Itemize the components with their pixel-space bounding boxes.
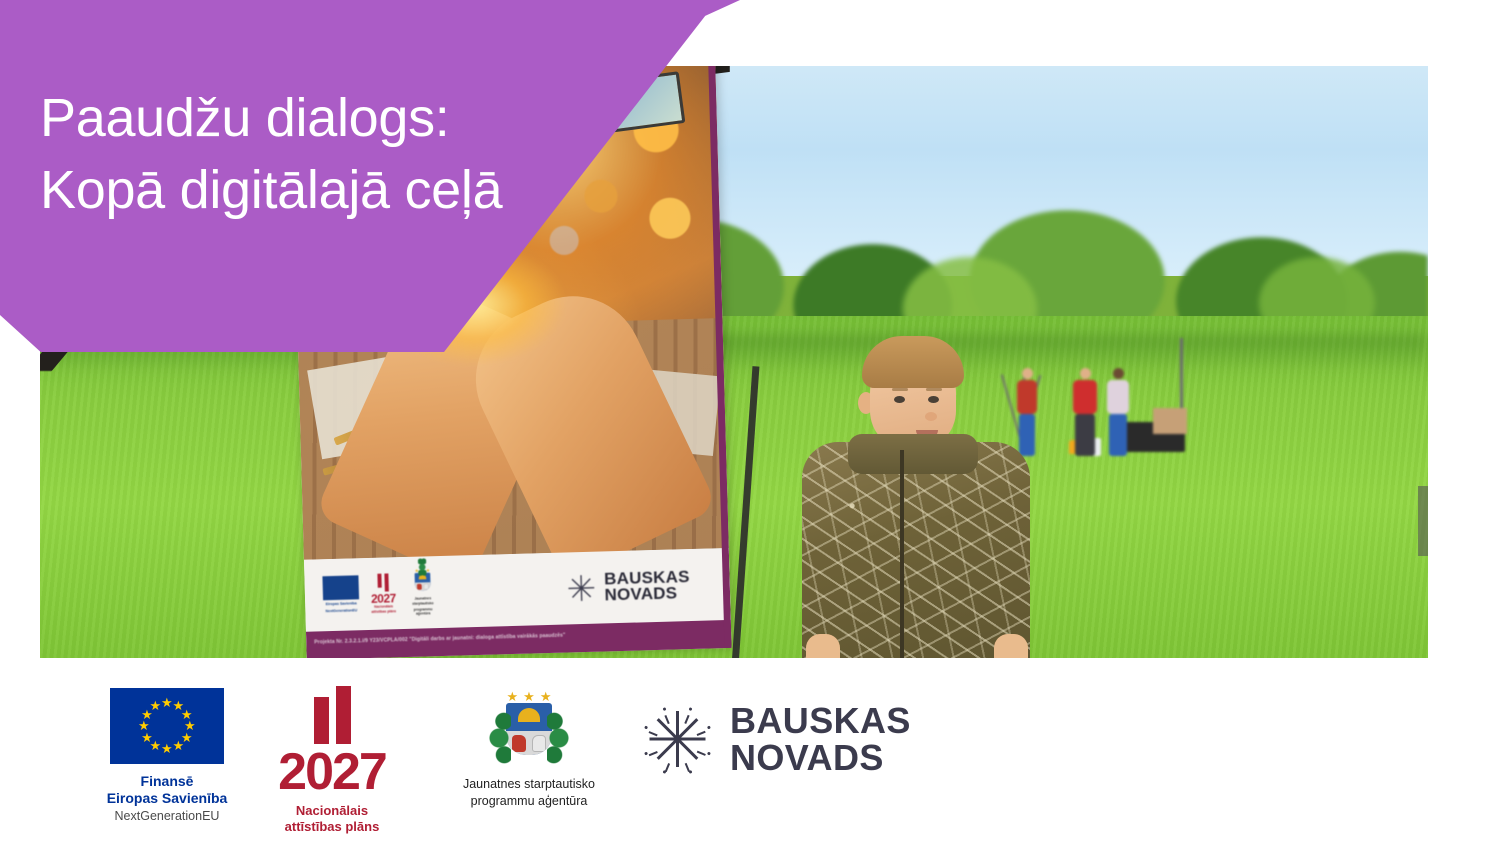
eu-flag-icon <box>322 576 359 601</box>
oak-branch-right-icon <box>547 710 571 766</box>
eu-flag-icon: ★★★★★★★★★★★★ <box>110 688 224 764</box>
coat-of-arms-shield <box>506 703 552 755</box>
banner-eu-logo: Eiropas Savienība NextGenerationEU <box>322 576 359 614</box>
banner-eu-caption: Eiropas Savienība <box>323 602 359 608</box>
jsp-caption-line-1: Jaunatnes starptautisko <box>454 776 604 793</box>
starburst-dash <box>684 715 690 724</box>
child-collar <box>848 434 978 474</box>
starburst-dash <box>648 731 657 737</box>
child-eye <box>928 396 939 403</box>
nap-caption-line-2: attīstības plāns <box>252 819 412 835</box>
logo-jaunatnes-agentura: ★★★ Jaunatnes starptautisko programmu aģ… <box>454 676 604 810</box>
eu-star-icon: ★ <box>161 696 173 709</box>
banner-jsp-logo: ★★★ Jaunatnes starptautisko programmu aģ… <box>407 568 438 616</box>
starburst-dot <box>644 752 648 756</box>
latvia-coat-of-arms-icon: ★★★ <box>417 569 427 578</box>
starburst-dot <box>688 707 692 711</box>
jsp-caption-line-2: programmu aģentūra <box>454 793 604 810</box>
eu-star-icon: ★ <box>150 699 162 712</box>
coat-of-arms-stars: ★★★ <box>507 690 552 703</box>
starburst-dash <box>696 731 705 737</box>
banner-jsp-caption-2: programmu aģentūra <box>408 607 438 617</box>
nap-bars-icon <box>370 573 395 592</box>
page-title-line-1: Paaudžu dialogs: <box>40 82 502 154</box>
latvia-coat-of-arms-icon: ★★★ <box>485 690 573 768</box>
banner-bauskas-text: BAUSKAS NOVADS <box>604 569 690 603</box>
nap-caption-line-1: Nacionālais <box>252 803 412 819</box>
bauskas-line-2: NOVADS <box>730 739 911 776</box>
cardboard-box <box>1153 408 1187 434</box>
shield-lower-field <box>506 731 552 755</box>
background-person <box>1107 368 1129 456</box>
griffin-icon <box>532 735 546 752</box>
child-nose <box>925 412 937 421</box>
footer-logo-bar: ★★★★★★★★★★★★ Finansē Eiropas Savienība N… <box>0 676 1500 860</box>
starburst-dot <box>644 726 648 730</box>
banner-project-reference: Projekta Nr. 2.3.2.1.i/9 Y23/VCPLA/002 "… <box>314 628 722 646</box>
logo-bauskas-novads: BAUSKAS NOVADS <box>640 676 911 776</box>
logo-nacionalais-attistibas-plans: 2027 Nacionālais attīstības plāns <box>252 676 412 835</box>
child-eyebrow <box>926 388 942 391</box>
banner-jsp-caption-1: Jaunatnes starptautisko <box>408 596 438 606</box>
bauskas-wordmark: BAUSKAS NOVADS <box>730 702 911 776</box>
starburst-dash <box>696 751 705 757</box>
logo-eu-nextgeneration: ★★★★★★★★★★★★ Finansē Eiropas Savienība N… <box>92 676 242 824</box>
nap-year: 2027 <box>252 746 412 798</box>
starburst-dot <box>706 752 710 756</box>
banner-nap-logo: 2027 Nacionālais attīstības plāns <box>370 573 396 613</box>
starburst-icon <box>640 702 714 776</box>
tent-pole-right <box>1418 486 1428 556</box>
bauskas-line-1: BAUSKAS <box>730 702 911 739</box>
eu-star-icon: ★ <box>161 742 173 755</box>
starburst-dot <box>662 707 666 711</box>
child-jacket-zipper <box>900 450 904 658</box>
starburst-dash <box>648 751 657 757</box>
eu-logo-line-3: NextGenerationEU <box>92 808 242 824</box>
child-eye <box>894 396 905 403</box>
child-hair <box>862 336 964 388</box>
banner-bauskas-logo: BAUSKAS NOVADS <box>564 567 712 605</box>
nap-bars-icon <box>252 686 412 744</box>
oak-branch-left-icon <box>487 710 511 766</box>
background-person <box>1073 368 1097 456</box>
eu-star-icon: ★ <box>173 739 185 752</box>
banner-logo-row: Eiropas Savienība NextGenerationEU 2027 … <box>304 548 731 632</box>
starburst-dash <box>664 715 670 724</box>
banner-eu-caption-sub: NextGenerationEU <box>323 608 359 614</box>
starburst-dot <box>706 726 710 730</box>
child-hand-left <box>806 634 840 658</box>
child-subject <box>782 334 1047 658</box>
starburst-dot <box>662 770 666 774</box>
page-title-line-2: Kopā digitālajā ceļā <box>40 154 502 226</box>
page-title: Paaudžu dialogs: Kopā digitālajā ceļā <box>40 82 502 226</box>
banner-nap-caption-2: attīstības plāns <box>371 609 396 614</box>
starburst-icon <box>564 571 599 606</box>
banner-nap-year: 2027 <box>371 592 396 605</box>
child-jacket <box>802 442 1030 658</box>
lion-icon <box>512 735 526 752</box>
eu-logo-line-1: Finansē <box>92 773 242 790</box>
child-eyebrow <box>892 388 908 391</box>
presentation-slide: Eiropas Savienība NextGenerationEU 2027 … <box>0 0 1500 860</box>
sun-icon <box>518 708 540 722</box>
starburst-dot <box>688 770 692 774</box>
eu-logo-line-2: Eiropas Savienība <box>92 790 242 807</box>
child-hand-right <box>994 634 1028 658</box>
